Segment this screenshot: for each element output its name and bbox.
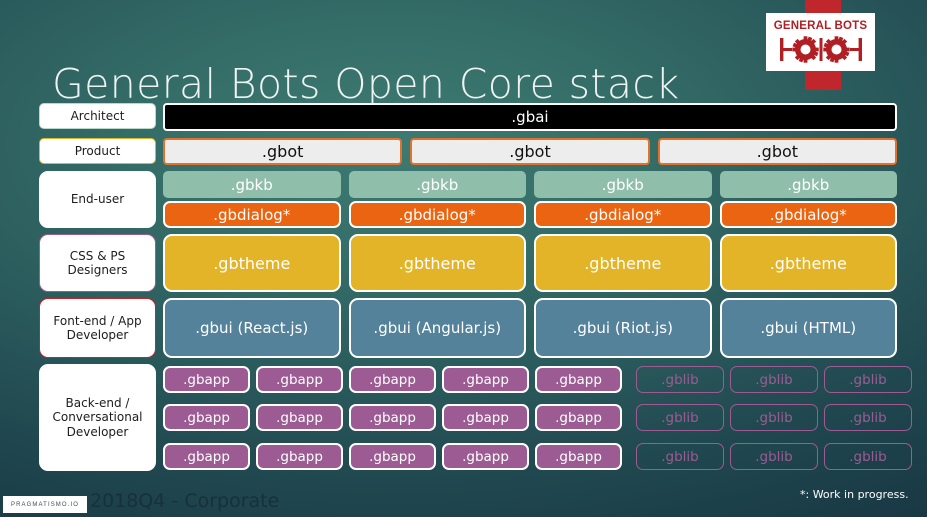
role-architect: Architect <box>39 103 156 129</box>
stack-box-gbapp-r1c2: .gbapp <box>256 366 343 393</box>
stack-box-gbapp-r2c1: .gbapp <box>163 404 250 431</box>
stack-box-gbapp-r3c2-label: .gbapp <box>276 449 323 465</box>
stack-box-gbtheme-4-label: .gbtheme <box>770 254 847 273</box>
stack-box-gbapp-r2c3: .gbapp <box>349 404 436 431</box>
role-product-label: Product <box>75 144 121 158</box>
stack-box-gbot-2: .gbot <box>410 138 649 165</box>
stack-box-gbkb-4-label: .gbkb <box>787 176 829 194</box>
stack-box-gbapp-r3c3: .gbapp <box>349 443 436 470</box>
stack-box-gblib-r3c3-label: .gblib <box>849 449 887 465</box>
stack-box-gbapp-r2c2-label: .gbapp <box>276 410 323 426</box>
stack-box-gbtheme-1-label: .gbtheme <box>213 254 290 273</box>
stack-diagram: ArchitectProductEnd-userCSS & PS Designe… <box>0 0 927 517</box>
role-font-end-app-developer-label: Font-end / App Developer <box>53 314 141 342</box>
stack-box-gbapp-r2c3-label: .gbapp <box>369 410 416 426</box>
stack-box-gbdialog-3-label: .gbdialog* <box>584 206 661 224</box>
stack-box-gbapp-r3c2: .gbapp <box>256 443 343 470</box>
stack-box-gblib-r2c2-label: .gblib <box>755 410 793 426</box>
stack-box-gblib-r1c1-label: .gblib <box>661 372 699 388</box>
stack-box-gbdialog-3: .gbdialog* <box>534 201 712 228</box>
stack-box-gblib-r2c1: .gblib <box>636 404 724 431</box>
role-css-ps-designers: CSS & PS Designers <box>39 234 156 292</box>
stack-box-gblib-r1c3: .gblib <box>824 366 912 393</box>
stack-box-gbkb-3-label: .gbkb <box>602 176 644 194</box>
role-product: Product <box>39 138 156 164</box>
stack-box-gbapp-r3c4-label: .gbapp <box>462 449 509 465</box>
stack-box-gbapp-r1c4: .gbapp <box>442 366 529 393</box>
stack-box-gbapp-r1c1: .gbapp <box>163 366 250 393</box>
stack-box-gbot-3-label: .gbot <box>757 142 798 161</box>
stack-box-gbot-1: .gbot <box>163 138 402 165</box>
stack-box-gbdialog-4: .gbdialog* <box>720 201 898 228</box>
stack-box-gbapp-r1c3-label: .gbapp <box>369 372 416 388</box>
stack-box-gbapp-r3c1-label: .gbapp <box>183 449 230 465</box>
role-end-user: End-user <box>39 171 156 228</box>
stack-box-gblib-r3c1: .gblib <box>636 443 724 470</box>
stack-box-gbapp-r1c4-label: .gbapp <box>462 372 509 388</box>
footer-note: *: Work in progress. <box>800 488 909 501</box>
stack-box-gbdialog-4-label: .gbdialog* <box>770 206 847 224</box>
stack-box-gblib-r1c3-label: .gblib <box>849 372 887 388</box>
stack-box-gbkb-2-label: .gbkb <box>416 176 458 194</box>
stack-box-gbai: .gbai <box>163 103 897 131</box>
stack-box-gbkb-1-label: .gbkb <box>231 176 273 194</box>
stack-box-gbdialog-1: .gbdialog* <box>163 201 341 228</box>
stack-box-gblib-r1c1: .gblib <box>636 366 724 393</box>
stack-box-gbot-2-label: .gbot <box>509 142 550 161</box>
stack-box-gbui-1-label: .gbui (React.js) <box>195 319 308 337</box>
stack-box-gbapp-r2c4-label: .gbapp <box>462 410 509 426</box>
stack-box-gbot-1-label: .gbot <box>262 142 303 161</box>
stack-box-gbapp-r2c4: .gbapp <box>442 404 529 431</box>
stack-box-gbapp-r3c1: .gbapp <box>163 443 250 470</box>
stack-box-gbui-3-label: .gbui (Riot.js) <box>573 319 673 337</box>
stack-box-gbui-2: .gbui (Angular.js) <box>349 298 527 358</box>
stack-box-gbapp-r1c2-label: .gbapp <box>276 372 323 388</box>
stack-box-gbui-3: .gbui (Riot.js) <box>534 298 712 358</box>
role-architect-label: Architect <box>71 109 125 123</box>
stack-box-gbapp-r1c1-label: .gbapp <box>183 372 230 388</box>
stack-box-gbot-3: .gbot <box>658 138 897 165</box>
stack-box-gbui-1: .gbui (React.js) <box>163 298 341 358</box>
stack-box-gbapp-r3c5-label: .gbapp <box>555 449 602 465</box>
stack-box-gbui-2-label: .gbui (Angular.js) <box>373 319 501 337</box>
stack-box-gbapp-r3c3-label: .gbapp <box>369 449 416 465</box>
footer-caption: 2018Q4 - Corporate <box>90 490 279 512</box>
stack-box-gbtheme-4: .gbtheme <box>720 234 898 292</box>
stack-box-gblib-r2c2: .gblib <box>730 404 818 431</box>
stack-box-gbtheme-1: .gbtheme <box>163 234 341 292</box>
stack-box-gblib-r3c2-label: .gblib <box>755 449 793 465</box>
stack-box-gblib-r3c3: .gblib <box>824 443 912 470</box>
stack-box-gblib-r1c2: .gblib <box>730 366 818 393</box>
role-back-end-conversational-developer: Back-end / Conversational Developer <box>39 364 156 471</box>
role-end-user-label: End-user <box>71 192 124 206</box>
role-css-ps-designers-label: CSS & PS Designers <box>68 249 128 277</box>
stack-box-gbkb-4: .gbkb <box>720 171 898 198</box>
stack-box-gbtheme-2-label: .gbtheme <box>399 254 476 273</box>
stack-box-gbui-4-label: .gbui (HTML) <box>760 319 856 337</box>
stack-box-gbapp-r1c3: .gbapp <box>349 366 436 393</box>
stack-box-gbapp-r1c5-label: .gbapp <box>555 372 602 388</box>
stack-box-gbtheme-3-label: .gbtheme <box>584 254 661 273</box>
slide-canvas: GENERAL BOTS <box>0 0 927 517</box>
stack-box-gblib-r2c3: .gblib <box>824 404 912 431</box>
stack-box-gbai-label: .gbai <box>511 108 548 126</box>
role-font-end-app-developer: Font-end / App Developer <box>39 298 156 358</box>
stack-box-gblib-r2c3-label: .gblib <box>849 410 887 426</box>
stack-box-gbapp-r2c5: .gbapp <box>535 404 622 431</box>
stack-box-gbtheme-3: .gbtheme <box>534 234 712 292</box>
stack-box-gbapp-r2c1-label: .gbapp <box>183 410 230 426</box>
stack-box-gbapp-r3c4: .gbapp <box>442 443 529 470</box>
stack-box-gbui-4: .gbui (HTML) <box>720 298 898 358</box>
pragmatismo-logo: PRAGMATISMO.IO <box>3 496 87 513</box>
stack-box-gblib-r3c1-label: .gblib <box>661 449 699 465</box>
stack-box-gbdialog-2: .gbdialog* <box>349 201 527 228</box>
stack-box-gbapp-r2c2: .gbapp <box>256 404 343 431</box>
stack-box-gblib-r3c2: .gblib <box>730 443 818 470</box>
stack-box-gbdialog-2-label: .gbdialog* <box>399 206 476 224</box>
role-back-end-conversational-developer-label: Back-end / Conversational Developer <box>52 396 142 438</box>
stack-box-gbkb-1: .gbkb <box>163 171 341 198</box>
stack-box-gbkb-2: .gbkb <box>349 171 527 198</box>
pragmatismo-logo-text: PRAGMATISMO.IO <box>11 502 79 508</box>
stack-box-gbapp-r2c5-label: .gbapp <box>555 410 602 426</box>
stack-box-gblib-r1c2-label: .gblib <box>755 372 793 388</box>
stack-box-gbapp-r3c5: .gbapp <box>535 443 622 470</box>
stack-box-gbtheme-2: .gbtheme <box>349 234 527 292</box>
stack-box-gbkb-3: .gbkb <box>534 171 712 198</box>
stack-box-gbapp-r1c5: .gbapp <box>535 366 622 393</box>
stack-box-gbdialog-1-label: .gbdialog* <box>213 206 290 224</box>
stack-box-gblib-r2c1-label: .gblib <box>661 410 699 426</box>
